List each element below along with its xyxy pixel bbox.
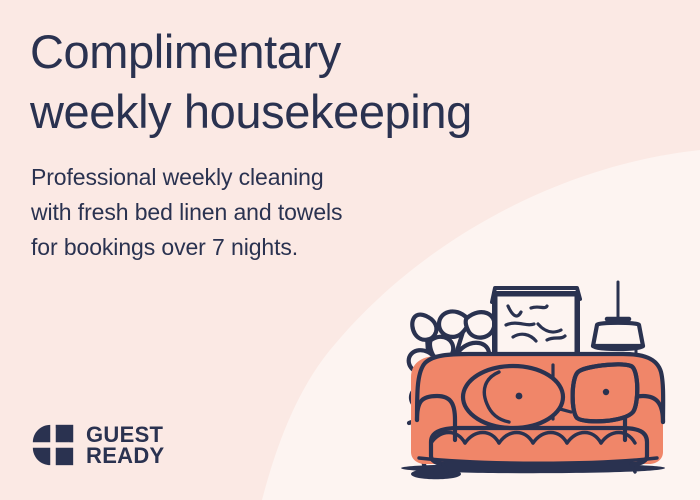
guestready-quadrant-mark [31, 423, 75, 467]
sofa-cushion [573, 364, 638, 421]
round-pillow [463, 366, 563, 428]
promo-banner: Complimentary weekly housekeeping Profes… [0, 0, 700, 500]
living-room-illustration [395, 262, 700, 500]
brand-wordmark: GUEST READY [86, 424, 165, 466]
banner-description: Professional weekly cleaning with fresh … [31, 160, 461, 265]
page-title: Complimentary weekly housekeeping [30, 22, 650, 142]
framed-picture [492, 288, 580, 358]
brand-logo: GUEST READY [31, 423, 165, 467]
